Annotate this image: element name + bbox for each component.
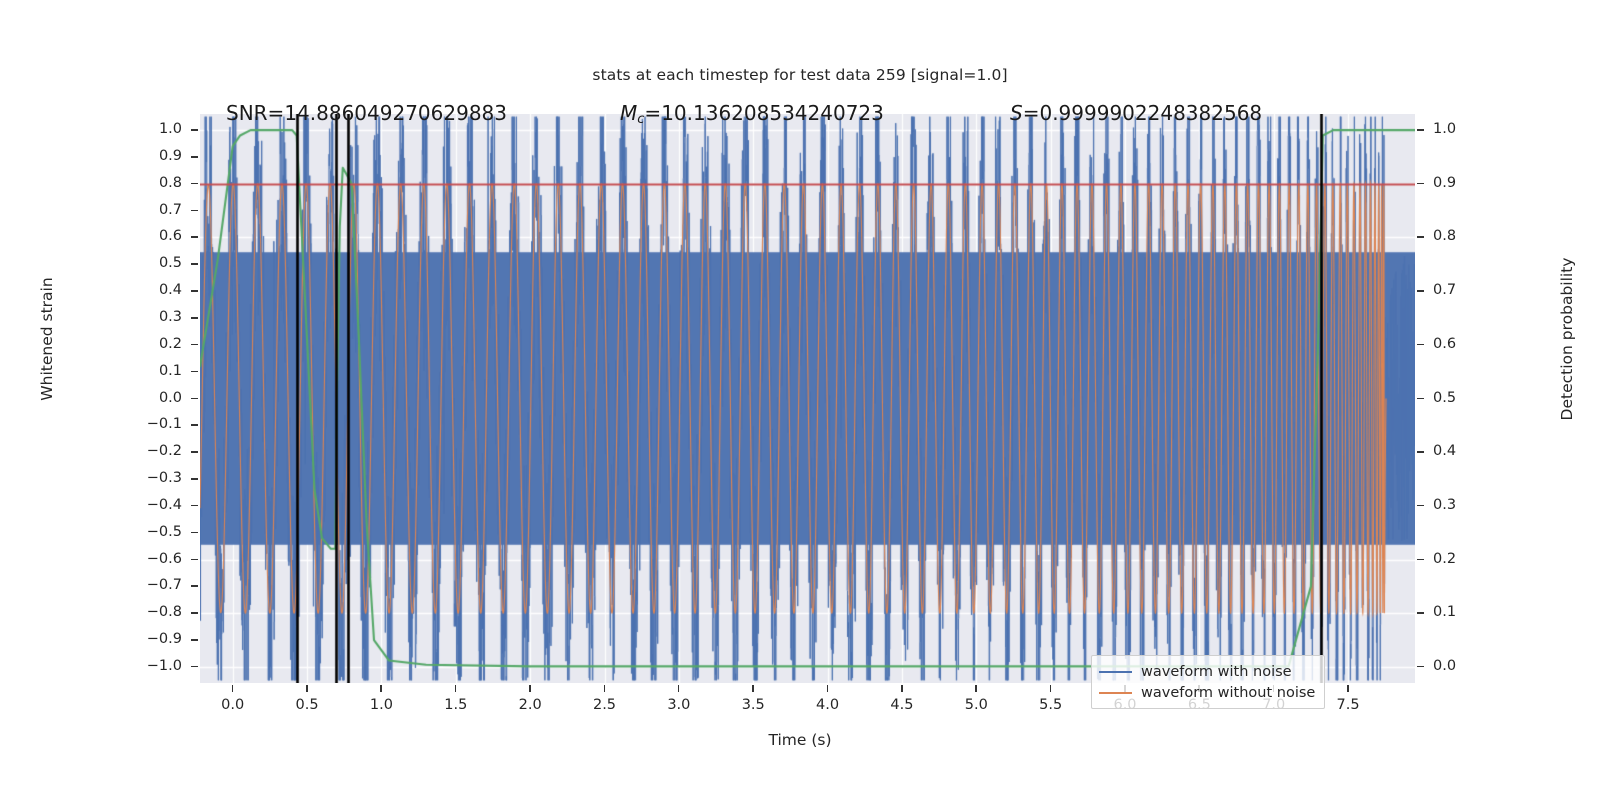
- x-tick-label: 0.0: [203, 697, 263, 713]
- y-tick-label-left: −0.3: [122, 470, 182, 486]
- x-tick-mark: [380, 685, 382, 692]
- y-tick-mark-left: [191, 183, 198, 185]
- x-tick-mark: [306, 685, 308, 692]
- y-tick-label-right: 1.0: [1433, 121, 1493, 137]
- x-tick-label: 5.5: [1021, 697, 1081, 713]
- y-tick-label-left: 1.0: [122, 121, 182, 137]
- y-tick-mark-right: [1417, 398, 1424, 400]
- y-tick-mark-left: [191, 612, 198, 614]
- y-tick-label-left: 0.9: [122, 148, 182, 164]
- y-tick-mark-left: [191, 585, 198, 587]
- annotation-chirp-mass: Mc=10.136208534240723: [620, 101, 884, 127]
- y-tick-label-right: 0.4: [1433, 443, 1493, 459]
- y-tick-label-left: −0.7: [122, 577, 182, 593]
- y-tick-mark-left: [191, 263, 198, 265]
- y-tick-mark-left: [191, 398, 198, 400]
- x-tick-mark: [827, 685, 829, 692]
- x-tick-mark: [678, 685, 680, 692]
- y-tick-label-left: −1.0: [122, 658, 182, 674]
- y-tick-label-left: 0.6: [122, 228, 182, 244]
- y-tick-mark-right: [1417, 451, 1424, 453]
- x-tick-mark: [529, 685, 531, 692]
- y-tick-label-right: 0.6: [1433, 336, 1493, 352]
- y-tick-mark-right: [1417, 559, 1424, 561]
- y-tick-mark-left: [191, 290, 198, 292]
- y-tick-label-left: −0.5: [122, 524, 182, 540]
- y-axis-label-right: Detection probability: [1558, 219, 1576, 459]
- y-tick-mark-left: [191, 344, 198, 346]
- y-tick-label-left: 0.8: [122, 175, 182, 191]
- annotation-snr-value: 14.886049270629883: [284, 101, 507, 125]
- y-tick-mark-right: [1417, 666, 1424, 668]
- annotation-s-value: 0.9999902248382568: [1039, 101, 1262, 125]
- y-tick-mark-left: [191, 236, 198, 238]
- legend-label: waveform without noise: [1141, 685, 1315, 701]
- y-tick-mark-right: [1417, 236, 1424, 238]
- x-tick-mark: [455, 685, 457, 692]
- annotation-mc-value: 10.136208534240723: [661, 101, 884, 125]
- x-tick-mark: [975, 685, 977, 692]
- y-tick-mark-left: [191, 532, 198, 534]
- x-tick-label: 1.5: [426, 697, 486, 713]
- x-tick-label: 4.0: [798, 697, 858, 713]
- annotation-score: S=0.9999902248382568: [1010, 101, 1262, 125]
- legend[interactable]: waveform with noisewaveform without nois…: [1091, 655, 1325, 709]
- y-tick-mark-left: [191, 639, 198, 641]
- y-tick-label-left: −0.1: [122, 416, 182, 432]
- y-tick-label-left: −0.2: [122, 443, 182, 459]
- y-tick-mark-left: [191, 451, 198, 453]
- legend-item[interactable]: waveform with noise: [1099, 661, 1315, 682]
- y-tick-mark-left: [191, 559, 198, 561]
- y-tick-label-left: 0.7: [122, 202, 182, 218]
- x-tick-label: 3.0: [649, 697, 709, 713]
- y-tick-label-left: −0.8: [122, 604, 182, 620]
- annotation-s-label: S: [1010, 101, 1023, 125]
- y-tick-mark-right: [1417, 129, 1424, 131]
- annotation-s-equals: =: [1023, 101, 1040, 125]
- y-tick-label-left: −0.9: [122, 631, 182, 647]
- y-tick-label-left: 0.5: [122, 255, 182, 271]
- plot-area[interactable]: [200, 114, 1415, 683]
- x-tick-label: 1.0: [351, 697, 411, 713]
- y-tick-mark-left: [191, 505, 198, 507]
- y-tick-mark-left: [191, 317, 198, 319]
- y-tick-label-left: 0.0: [122, 390, 182, 406]
- x-tick-mark: [1050, 685, 1052, 692]
- x-tick-mark: [1347, 685, 1349, 692]
- annotation-mc-equals: =: [644, 101, 661, 125]
- y-tick-label-right: 0.0: [1433, 658, 1493, 674]
- y-tick-label-right: 0.1: [1433, 604, 1493, 620]
- figure-root: stats at each timestep for test data 259…: [0, 0, 1600, 800]
- legend-item[interactable]: waveform without noise: [1099, 682, 1315, 703]
- annotation-snr-label: SNR=: [226, 101, 284, 125]
- y-tick-mark-left: [191, 666, 198, 668]
- y-tick-mark-right: [1417, 344, 1424, 346]
- y-tick-label-left: −0.4: [122, 497, 182, 513]
- y-tick-label-right: 0.3: [1433, 497, 1493, 513]
- legend-color-swatch: [1099, 692, 1132, 694]
- legend-label: waveform with noise: [1141, 664, 1292, 680]
- x-tick-label: 0.5: [277, 697, 337, 713]
- x-tick-label: 2.0: [500, 697, 560, 713]
- y-tick-mark-left: [191, 424, 198, 426]
- y-tick-label-left: 0.1: [122, 363, 182, 379]
- x-tick-mark: [901, 685, 903, 692]
- x-tick-label: 7.5: [1318, 697, 1378, 713]
- y-tick-mark-right: [1417, 612, 1424, 614]
- legend-color-swatch: [1099, 671, 1132, 673]
- y-tick-label-left: 0.2: [122, 336, 182, 352]
- y-axis-label-left: Whitened strain: [38, 229, 56, 449]
- x-tick-label: 2.5: [575, 697, 635, 713]
- x-tick-label: 4.5: [872, 697, 932, 713]
- y-tick-mark-left: [191, 210, 198, 212]
- y-tick-label-right: 0.2: [1433, 551, 1493, 567]
- y-tick-mark-left: [191, 371, 198, 373]
- y-tick-mark-left: [191, 129, 198, 131]
- y-tick-label-left: 0.4: [122, 282, 182, 298]
- x-tick-mark: [752, 685, 754, 692]
- annotation-snr: SNR=14.886049270629883: [226, 101, 507, 125]
- y-tick-mark-right: [1417, 183, 1424, 185]
- y-tick-mark-right: [1417, 290, 1424, 292]
- y-tick-mark-left: [191, 156, 198, 158]
- y-tick-mark-left: [191, 478, 198, 480]
- x-axis-label: Time (s): [0, 731, 1600, 749]
- x-tick-label: 3.5: [723, 697, 783, 713]
- y-tick-label-right: 0.7: [1433, 282, 1493, 298]
- annotation-mc-label: M: [620, 101, 637, 125]
- y-tick-label-left: 0.3: [122, 309, 182, 325]
- x-tick-label: 5.0: [946, 697, 1006, 713]
- y-tick-mark-right: [1417, 505, 1424, 507]
- y-tick-label-right: 0.5: [1433, 390, 1493, 406]
- x-tick-mark: [232, 685, 234, 692]
- y-tick-label-right: 0.8: [1433, 228, 1493, 244]
- y-tick-label-right: 0.9: [1433, 175, 1493, 191]
- chart-title: stats at each timestep for test data 259…: [0, 66, 1600, 84]
- y-tick-label-left: −0.6: [122, 551, 182, 567]
- x-tick-mark: [604, 685, 606, 692]
